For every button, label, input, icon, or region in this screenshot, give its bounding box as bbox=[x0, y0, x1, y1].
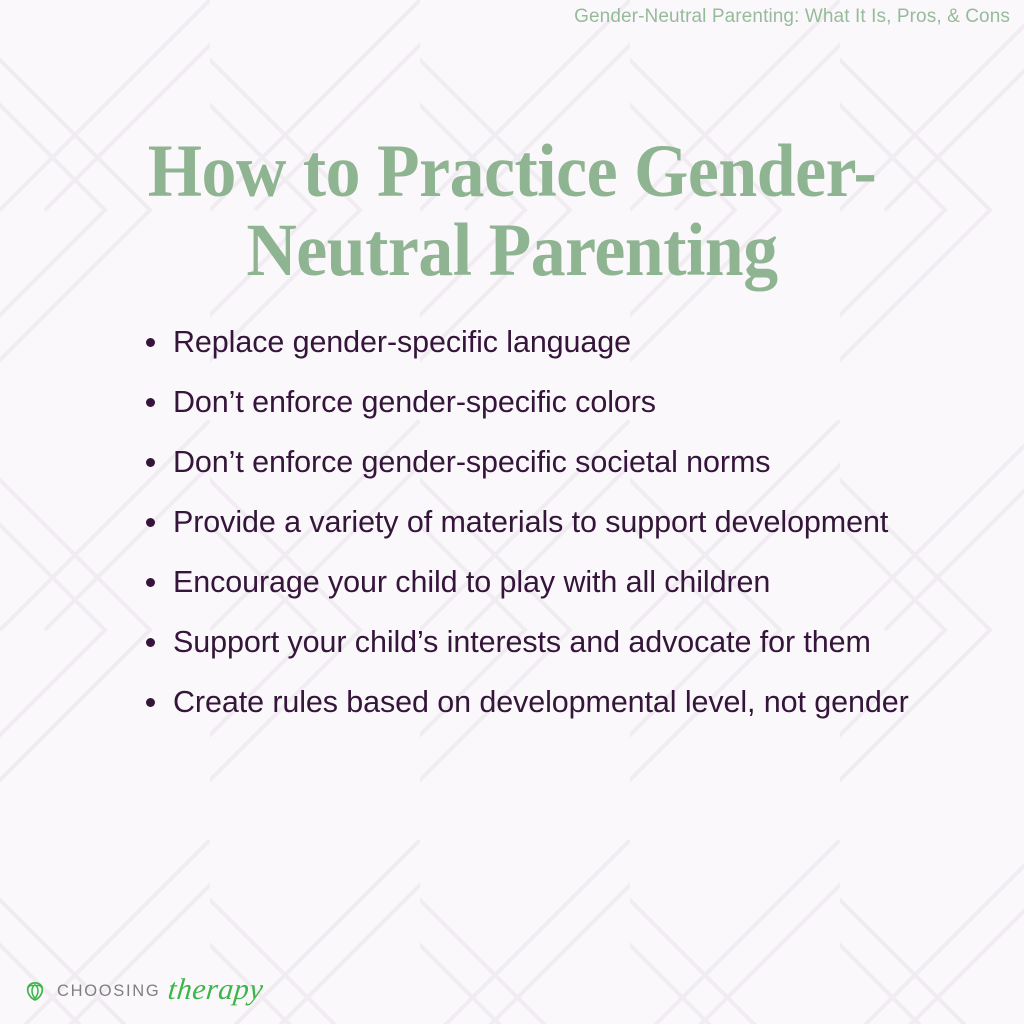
bullet-dot-icon bbox=[146, 338, 155, 347]
list-item-label: Create rules based on developmental leve… bbox=[173, 676, 940, 729]
infographic-canvas: Gender-Neutral Parenting: What It Is, Pr… bbox=[0, 0, 1024, 1024]
bullet-dot-icon bbox=[146, 398, 155, 407]
list-item: Support your child’s interests and advoc… bbox=[140, 616, 940, 669]
page-title-line-1: How to Practice Gender- bbox=[120, 132, 905, 211]
choosing-therapy-logo: Choosing therapy bbox=[22, 974, 264, 1008]
list-item: Don’t enforce gender-specific societal n… bbox=[140, 436, 940, 489]
list-item: Replace gender-specific language bbox=[140, 316, 940, 369]
tips-list: Replace gender-specific language Don’t e… bbox=[140, 316, 940, 736]
list-item-label: Support your child’s interests and advoc… bbox=[173, 616, 940, 669]
list-item: Don’t enforce gender-specific colors bbox=[140, 376, 940, 429]
page-title-line-2: Neutral Parenting bbox=[120, 211, 905, 290]
list-item: Create rules based on developmental leve… bbox=[140, 676, 940, 729]
logo-word-choosing: Choosing bbox=[57, 982, 160, 1001]
list-item-label: Don’t enforce gender-specific colors bbox=[173, 376, 940, 429]
article-header-title: Gender-Neutral Parenting: What It Is, Pr… bbox=[574, 6, 1010, 28]
list-item: Encourage your child to play with all ch… bbox=[140, 556, 940, 609]
list-item: Provide a variety of materials to suppor… bbox=[140, 496, 940, 549]
logo-word-therapy: therapy bbox=[167, 975, 265, 1005]
bullet-dot-icon bbox=[146, 518, 155, 527]
bullet-dot-icon bbox=[146, 638, 155, 647]
list-item-label: Encourage your child to play with all ch… bbox=[173, 556, 940, 609]
page-title: How to Practice Gender- Neutral Parentin… bbox=[0, 132, 1024, 290]
list-item-label: Replace gender-specific language bbox=[173, 316, 940, 369]
bullet-dot-icon bbox=[146, 698, 155, 707]
bullet-dot-icon bbox=[146, 458, 155, 467]
list-item-label: Don’t enforce gender-specific societal n… bbox=[173, 436, 940, 489]
bullet-dot-icon bbox=[146, 578, 155, 587]
list-item-label: Provide a variety of materials to suppor… bbox=[173, 496, 940, 549]
leaf-flower-icon bbox=[22, 978, 48, 1004]
